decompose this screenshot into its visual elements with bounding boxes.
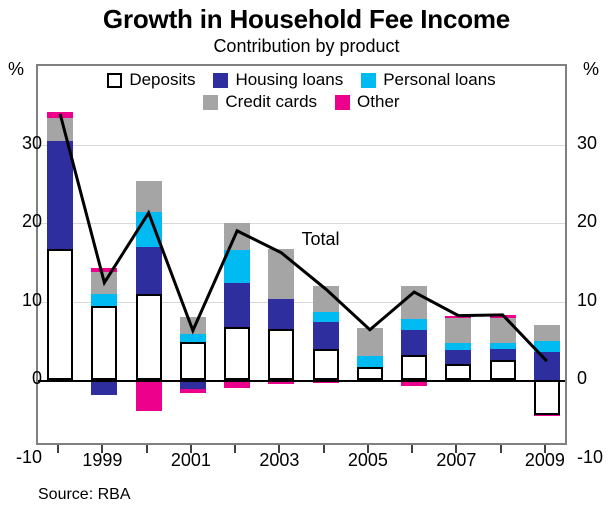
chart-legend: DepositsHousing loansPersonal loans Cred… (36, 64, 567, 113)
legend-item[interactable]: Deposits (107, 70, 195, 90)
total-series-label: Total (302, 229, 340, 250)
chart-subtitle: Contribution by product (0, 36, 613, 57)
legend-row-primary: DepositsHousing loansPersonal loans (36, 69, 567, 91)
y-axis-tick-label-right: 10 (577, 291, 613, 309)
legend-item[interactable]: Credit cards (203, 92, 317, 112)
x-axis-tick-label: 2009 (515, 450, 575, 471)
y-axis-unit-right: % (583, 59, 599, 80)
legend-item-label: Housing loans (235, 70, 343, 90)
x-axis-tick-mark (146, 445, 148, 453)
legend-swatch-icon (203, 95, 218, 110)
y-axis-tick-label-right: 30 (577, 134, 613, 152)
y-axis-tick-label-right: 20 (577, 212, 613, 230)
chart-figure: Growth in Household Fee Income Contribut… (0, 0, 613, 513)
source-note: Source: RBA (38, 486, 130, 504)
legend-item[interactable]: Other (335, 92, 400, 112)
x-axis-tick-label: 2003 (249, 450, 309, 471)
x-axis-tick-mark (323, 445, 325, 453)
legend-item[interactable]: Personal loans (361, 70, 495, 90)
plot-area (36, 64, 567, 445)
x-axis-tick-mark (234, 445, 236, 453)
legend-swatch-icon (335, 95, 350, 110)
legend-item-label: Deposits (129, 70, 195, 90)
y-axis-tick-label-left: 30 (2, 134, 42, 152)
legend-item-label: Personal loans (383, 70, 495, 90)
x-axis-tick-mark (411, 445, 413, 453)
legend-row-secondary: Credit cardsOther (36, 91, 567, 113)
legend-item-label: Other (357, 92, 400, 112)
legend-swatch-icon (107, 73, 122, 88)
legend-swatch-icon (213, 73, 228, 88)
y-axis-tick-label-left: 10 (2, 291, 42, 309)
x-axis-tick-label: 2007 (426, 450, 486, 471)
total-line-series (38, 66, 569, 447)
x-axis-tick-label: 1999 (72, 450, 132, 471)
y-axis-unit-left: % (8, 59, 24, 80)
y-axis-tick-label-right: 0 (577, 369, 613, 387)
legend-item-label: Credit cards (225, 92, 317, 112)
y-axis-tick-label-left: 0 (2, 369, 42, 387)
y-axis-tick-label-left: 20 (2, 212, 42, 230)
x-axis-tick-mark (57, 445, 59, 453)
x-axis-tick-label: 2005 (338, 450, 398, 471)
chart-title: Growth in Household Fee Income (0, 4, 613, 35)
y-axis-tick-label-right: -10 (577, 448, 613, 466)
x-axis-tick-mark (500, 445, 502, 453)
y-axis-tick-label-left: -10 (2, 448, 42, 466)
legend-item[interactable]: Housing loans (213, 70, 343, 90)
x-axis-tick-label: 2001 (161, 450, 221, 471)
legend-swatch-icon (361, 73, 376, 88)
